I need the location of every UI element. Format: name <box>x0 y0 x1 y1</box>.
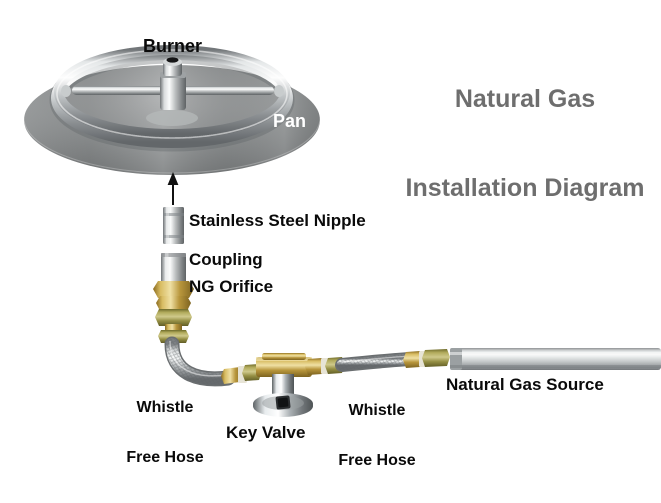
hose-right-line-1: Whistle <box>329 403 425 420</box>
title-line-2: Installation Diagram <box>395 174 655 204</box>
stainless-steel-nipple-shape <box>163 207 184 244</box>
hose-right-line-2: Free Hose <box>329 453 425 470</box>
coupling-shape <box>161 253 186 283</box>
label-stainless-steel-nipple: Stainless Steel Nipple <box>189 212 366 230</box>
key-valve-shape <box>253 353 313 417</box>
hose-left-line-1: Whistle <box>117 400 213 417</box>
label-natural-gas-source: Natural Gas Source <box>446 376 604 394</box>
assembly-direction-arrow <box>168 172 179 205</box>
label-ng-orifice: NG Orifice <box>189 278 273 296</box>
label-key-valve: Key Valve <box>226 424 305 442</box>
natural-gas-source-shape <box>450 348 661 370</box>
label-whistle-free-hose-left: Whistle Free Hose <box>117 366 213 500</box>
diagram-canvas: Natural Gas Installation Diagram Burner … <box>0 0 661 472</box>
hose-left-line-2: Free Hose <box>117 450 213 467</box>
label-whistle-free-hose-right: Whistle Free Hose <box>329 369 425 503</box>
title-line-1: Natural Gas <box>395 85 655 115</box>
label-burner: Burner <box>143 37 202 56</box>
page-title: Natural Gas Installation Diagram <box>395 26 655 262</box>
label-coupling: Coupling <box>189 251 263 269</box>
label-pan: Pan <box>273 112 306 131</box>
ng-orifice-shape <box>153 281 194 343</box>
